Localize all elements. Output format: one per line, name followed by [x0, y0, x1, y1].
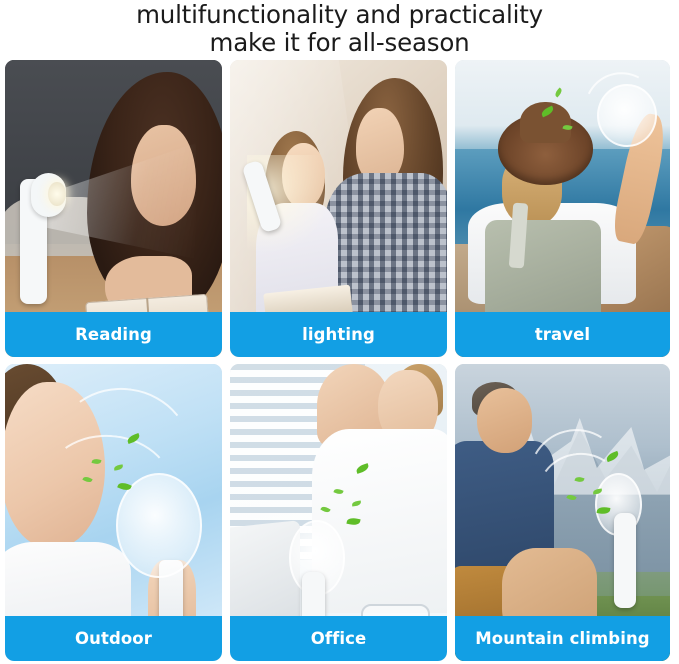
scenario-row-1: Reading lighting [5, 60, 674, 357]
scenario-label-mountain-climbing: Mountain climbing [455, 616, 670, 661]
headline-line-2: make it for all-season [0, 29, 679, 57]
scenario-label-lighting: lighting [230, 312, 447, 357]
scenario-card-reading[interactable]: Reading [5, 60, 222, 357]
scenario-label-text: Outdoor [75, 629, 152, 648]
scenario-label-outdoor: Outdoor [5, 616, 222, 661]
page-headline: multifunctionality and practicality make… [0, 0, 679, 57]
scenario-label-reading: Reading [5, 312, 222, 357]
scenario-card-mountain-climbing[interactable]: Mountain climbing [455, 364, 670, 661]
scenario-label-text: Office [311, 629, 367, 648]
scenario-label-text: travel [535, 325, 590, 344]
scenario-card-outdoor[interactable]: Outdoor [5, 364, 222, 661]
scenario-label-text: Reading [75, 325, 152, 344]
scenario-card-travel[interactable]: travel [455, 60, 670, 357]
scenario-grid: Reading lighting [5, 60, 674, 661]
scenario-label-text: Mountain climbing [475, 629, 649, 648]
scenario-card-office[interactable]: Office [230, 364, 447, 661]
scenario-row-2: Outdoor [5, 364, 674, 661]
headline-line-1: multifunctionality and practicality [0, 1, 679, 29]
scenario-label-office: Office [230, 616, 447, 661]
scenario-card-lighting[interactable]: lighting [230, 60, 447, 357]
scenario-label-text: lighting [302, 325, 375, 344]
scenario-label-travel: travel [455, 312, 670, 357]
